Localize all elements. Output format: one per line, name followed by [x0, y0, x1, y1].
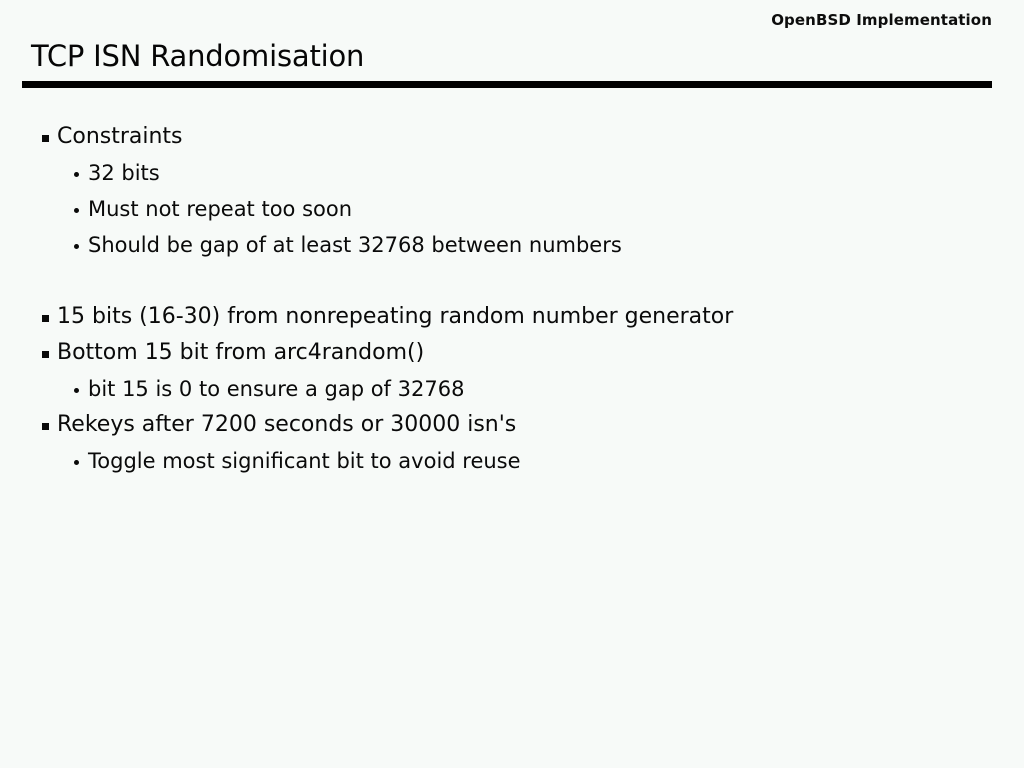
list-item: bit 15 is 0 to ensure a gap of 32768 [0, 371, 1024, 407]
square-bullet-icon [42, 351, 49, 358]
page-title: TCP ISN Randomisation [31, 39, 364, 73]
list-item-label: Rekeys after 7200 seconds or 30000 isn's [57, 412, 516, 437]
square-bullet-icon [42, 315, 49, 322]
list-item-label: 15 bits (16-30) from nonrepeating random… [57, 304, 733, 329]
slide: OpenBSD Implementation TCP ISN Randomisa… [0, 0, 1024, 768]
slide-header-label: OpenBSD Implementation [771, 11, 992, 29]
bullet-list: Constraints32 bitsMust not repeat too so… [0, 119, 1024, 479]
list-item: Must not repeat too soon [0, 191, 1024, 227]
list-item: 32 bits [0, 155, 1024, 191]
round-bullet-icon [74, 172, 79, 177]
round-bullet-icon [74, 244, 79, 249]
list-item-label: bit 15 is 0 to ensure a gap of 32768 [88, 377, 464, 401]
list-item: Constraints [0, 119, 1024, 155]
list-item: Rekeys after 7200 seconds or 30000 isn's [0, 407, 1024, 443]
title-divider [22, 81, 992, 88]
square-bullet-icon [42, 423, 49, 430]
list-item-label: Constraints [57, 124, 183, 149]
list-item: Should be gap of at least 32768 between … [0, 227, 1024, 263]
list-item-label: Must not repeat too soon [88, 197, 352, 221]
round-bullet-icon [74, 208, 79, 213]
list-item: 15 bits (16-30) from nonrepeating random… [0, 299, 1024, 335]
round-bullet-icon [74, 460, 79, 465]
list-item-label: Bottom 15 bit from arc4random() [57, 340, 424, 365]
round-bullet-icon [74, 388, 79, 393]
list-item-label: Should be gap of at least 32768 between … [88, 233, 622, 257]
list-item: Bottom 15 bit from arc4random() [0, 335, 1024, 371]
list-item-label: Toggle most significant bit to avoid reu… [88, 449, 521, 473]
list-item-label: 32 bits [88, 161, 160, 185]
list-item: Toggle most significant bit to avoid reu… [0, 443, 1024, 479]
bullet-spacer [0, 263, 1024, 299]
square-bullet-icon [42, 135, 49, 142]
